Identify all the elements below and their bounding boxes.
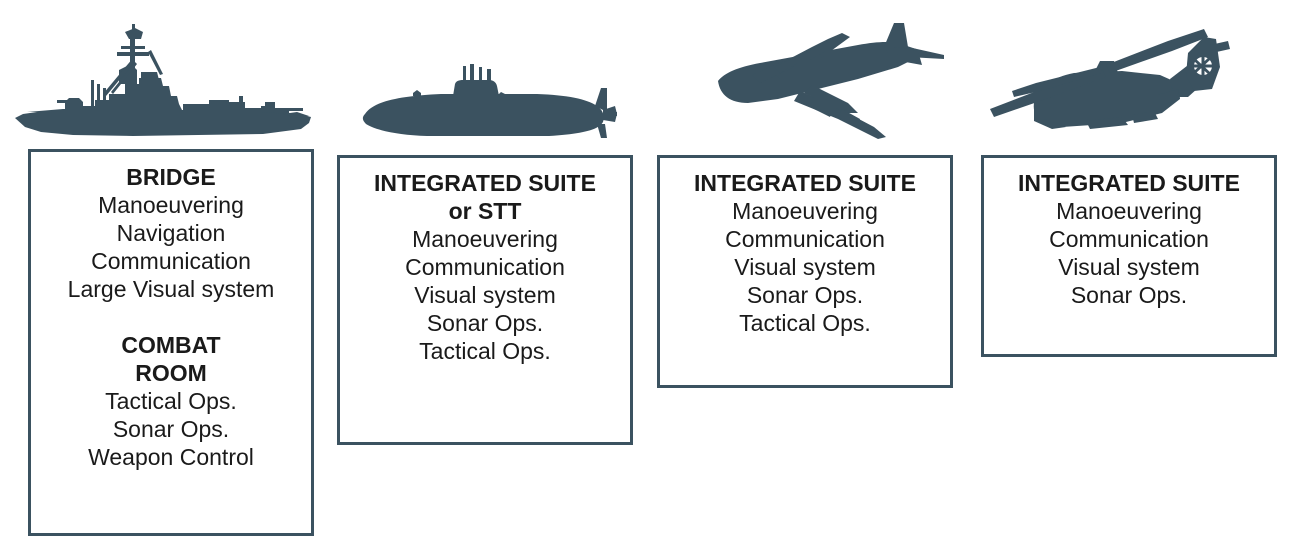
spec-line: Sonar Ops. [340, 309, 630, 337]
spec-title: INTEGRATED SUITE [660, 169, 950, 197]
spec-line: Visual system [660, 253, 950, 281]
spec-line: Communication [984, 225, 1274, 253]
spec-line: Sonar Ops. [660, 281, 950, 309]
spec-title: COMBAT [31, 331, 311, 359]
spec-line: Sonar Ops. [984, 281, 1274, 309]
spec-line: Visual system [340, 281, 630, 309]
spec-title: BRIDGE [31, 163, 311, 191]
spec-box-maritime-patrol-aircraft[interactable]: INTEGRATED SUITE Manoeuvering Communicat… [657, 155, 953, 388]
submarine-silhouette-icon [357, 62, 619, 140]
spec-title: or STT [340, 197, 630, 225]
spec-line: Visual system [984, 253, 1274, 281]
warship-silhouette-icon [13, 22, 313, 140]
spec-line: Tactical Ops. [660, 309, 950, 337]
spec-line: Manoeuvering [31, 191, 311, 219]
spec-line: Manoeuvering [984, 197, 1274, 225]
spec-box-surface-ship[interactable]: BRIDGE Manoeuvering Navigation Communica… [28, 149, 314, 536]
spec-line: Large Visual system [31, 275, 311, 303]
spec-line: Communication [340, 253, 630, 281]
spec-line: Communication [31, 247, 311, 275]
spec-line: Navigation [31, 219, 311, 247]
spec-title: ROOM [31, 359, 311, 387]
spec-line: Weapon Control [31, 443, 311, 471]
spec-line: Tactical Ops. [31, 387, 311, 415]
spec-line: Manoeuvering [660, 197, 950, 225]
spec-box-submarine[interactable]: INTEGRATED SUITE or STT Manoeuvering Com… [337, 155, 633, 445]
spec-line: Manoeuvering [340, 225, 630, 253]
patrol-aircraft-silhouette-icon [708, 17, 946, 140]
spec-line: Tactical Ops. [340, 337, 630, 365]
spec-box-helicopter[interactable]: INTEGRATED SUITE Manoeuvering Communicat… [981, 155, 1277, 357]
spec-line: Communication [660, 225, 950, 253]
helicopter-silhouette-icon [982, 27, 1232, 140]
spec-line: Sonar Ops. [31, 415, 311, 443]
spec-title: INTEGRATED SUITE [984, 169, 1274, 197]
spec-title: INTEGRATED SUITE [340, 169, 630, 197]
section-spacer [31, 303, 311, 331]
